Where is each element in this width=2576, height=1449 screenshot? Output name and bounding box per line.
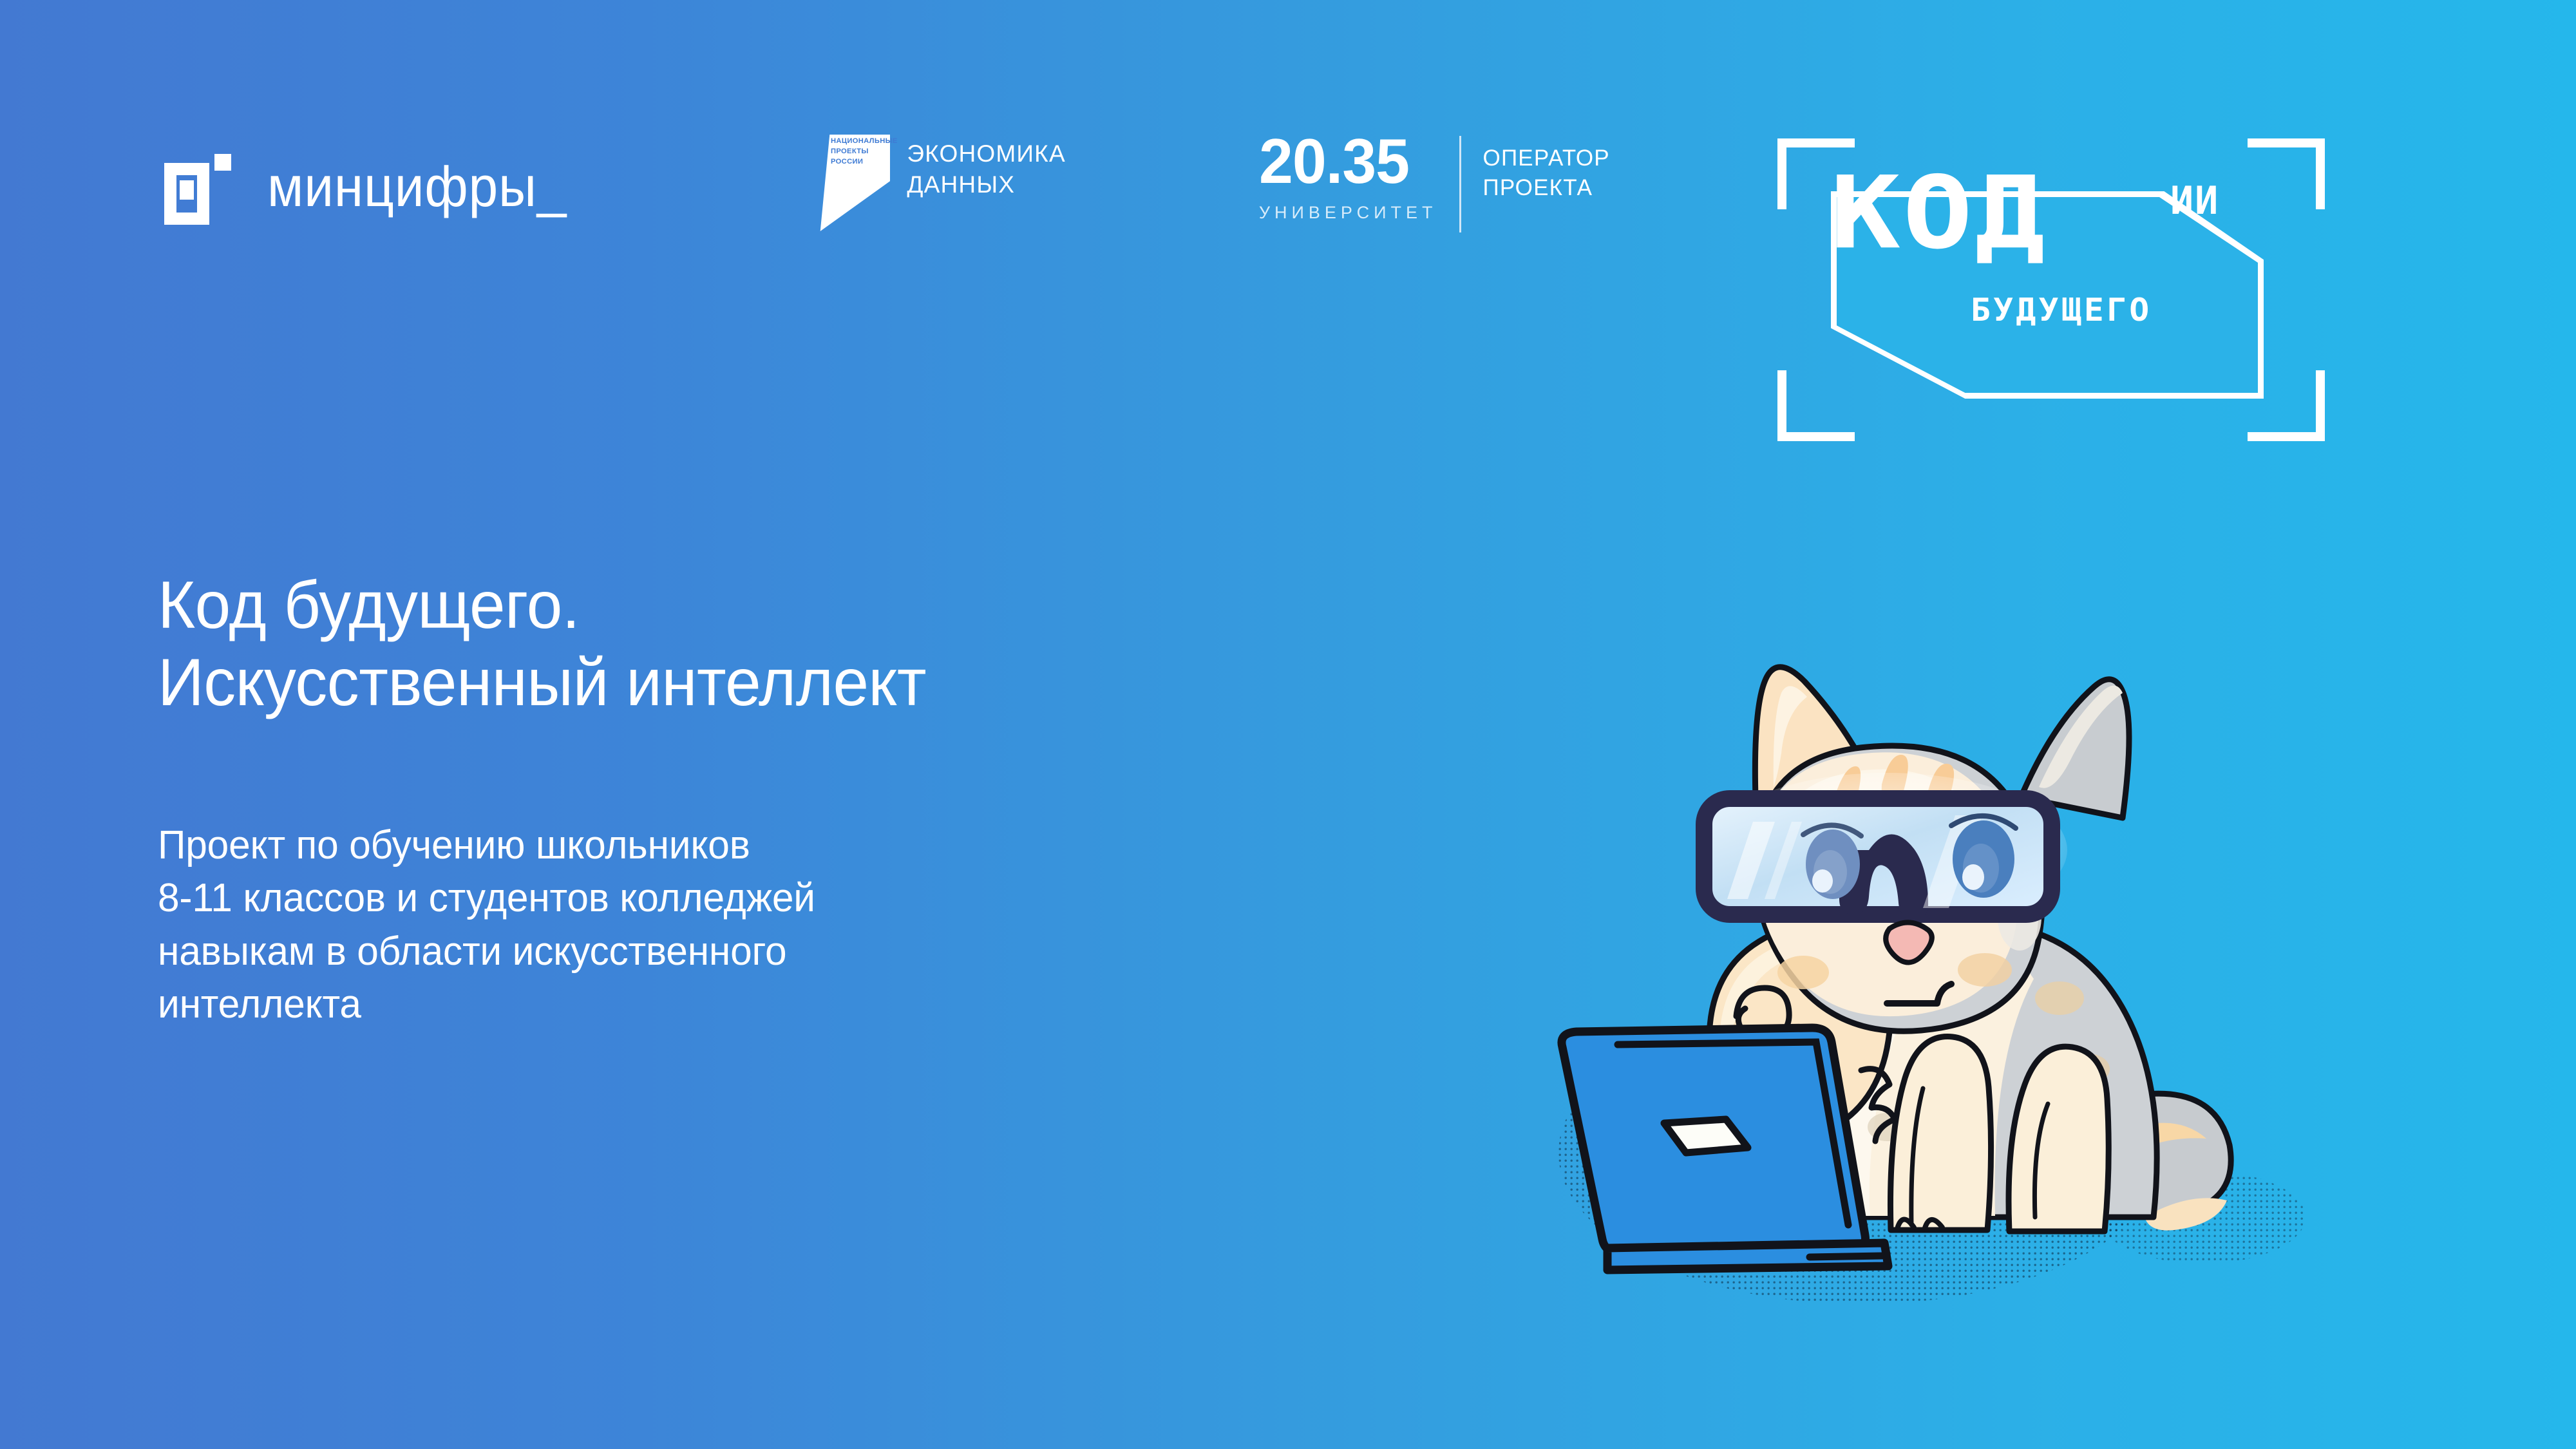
national-projects-logo: НАЦИОНАЛЬНЫЕ ПРОЕКТЫ РОССИИ ЭКОНОМИКА ДА…	[818, 135, 1065, 231]
kod-word: КОД	[1830, 163, 2047, 263]
economy-line-1: ЭКОНОМИКА	[907, 135, 1065, 169]
partner-logo-row: минцифры_ НАЦИОНАЛЬНЫЕ ПРОЕКТЫ РОССИИ	[164, 135, 1610, 238]
flag-line-3-text: РОССИИ	[831, 158, 889, 166]
mincifry-wordmark: минцифры_	[267, 158, 567, 215]
operator-line-2: ПРОЕКТА	[1483, 173, 1610, 203]
operator-line-1: ОПЕРАТОР	[1483, 144, 1610, 173]
page-description: Проект по обучению школьников 8-11 класс…	[158, 819, 815, 1032]
mincifry-core-square	[180, 180, 194, 200]
laptop	[1562, 1028, 1888, 1270]
mincifry-logo: минцифры_	[164, 148, 589, 225]
flag-line-3: РОССИИ	[831, 158, 887, 166]
flag-line-2: ПРОЕКТЫ	[831, 147, 887, 155]
university-2035-logo: 20.35 УНИВЕРСИТЕТ ОПЕРАТОР ПРОЕКТА	[1259, 132, 1610, 232]
cat-illustration	[1501, 638, 2363, 1320]
economy-of-data-caption: ЭКОНОМИКА ДАННЫХ	[907, 135, 1065, 200]
page-title: Код будущего. Искусственный интеллект	[158, 567, 926, 722]
budushchego-word: БУДУЩЕГО	[1971, 294, 2152, 326]
flag-text-lines: НАЦИОНАЛЬНЫЕ ПРОЕКТЫ РОССИИ	[831, 137, 887, 166]
university-2035-subtitle: УНИВЕРСИТЕТ	[1259, 204, 1437, 222]
economy-line-2: ДАННЫХ	[907, 169, 1065, 200]
national-projects-flag-icon: НАЦИОНАЛЬНЫЕ ПРОЕКТЫ РОССИИ	[818, 135, 890, 231]
university-2035-number: 20.35	[1259, 132, 1409, 190]
flag-line-1: НАЦИОНАЛЬНЫЕ	[831, 137, 887, 145]
mincifry-accent-square	[214, 154, 231, 171]
university-2035-left: 20.35 УНИВЕРСИТЕТ	[1259, 132, 1437, 222]
poster-canvas: минцифры_ НАЦИОНАЛЬНЫЕ ПРОЕКТЫ РОССИИ	[0, 0, 2576, 1449]
mincifry-square-mark-icon	[164, 149, 240, 225]
flag-line-2-text: ПРОЕКТЫ	[831, 147, 889, 155]
flag-line-1-text: НАЦИОНАЛЬНЫЕ	[831, 137, 889, 145]
vr-goggles-icon	[1704, 773, 2067, 927]
kod-budushchego-logo: КОД БУДУЩЕГО ИИ	[1777, 138, 2325, 441]
university-divider	[1459, 136, 1461, 232]
project-operator-caption: ОПЕРАТОР ПРОЕКТА	[1483, 132, 1610, 203]
ii-badge: ИИ	[2170, 182, 2219, 220]
